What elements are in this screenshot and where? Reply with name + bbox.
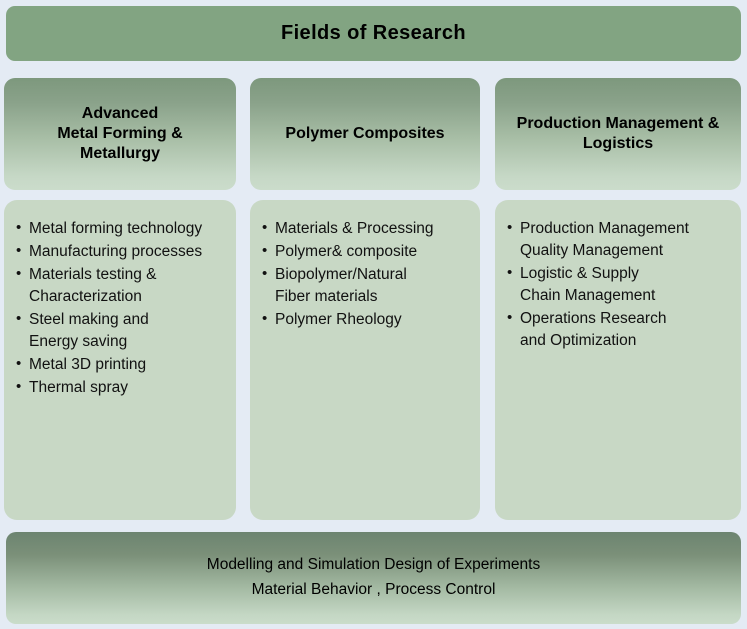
list-item: Manufacturing processes bbox=[16, 241, 224, 263]
list-item: Polymer Rheology bbox=[262, 309, 468, 331]
page-title: Fields of Research bbox=[281, 22, 466, 45]
list-item: Polymer& composite bbox=[262, 241, 468, 263]
diagram-title-banner: Fields of Research bbox=[6, 6, 741, 61]
column-header-label: Advanced Metal Forming & Metallurgy bbox=[57, 104, 182, 163]
list-item: Steel making and Energy saving bbox=[16, 309, 224, 353]
fields-of-research-diagram: Fields of Research Advanced Metal Formin… bbox=[0, 0, 747, 629]
list-item: Materials testing & Characterization bbox=[16, 264, 224, 308]
footer-line-2: Material Behavior , Process Control bbox=[252, 578, 496, 603]
column-header-label: Production Management & Logistics bbox=[517, 114, 720, 154]
column-body-polymer-composites: Materials & Processing Polymer& composit… bbox=[250, 200, 480, 520]
diagram-footer-banner: Modelling and Simulation Design of Exper… bbox=[6, 532, 741, 624]
column-header-label: Polymer Composites bbox=[285, 124, 444, 144]
column-header-production-management: Production Management & Logistics bbox=[495, 78, 741, 190]
column-header-polymer-composites: Polymer Composites bbox=[250, 78, 480, 190]
list-item: Materials & Processing bbox=[262, 218, 468, 240]
list-item: Logistic & Supply Chain Management bbox=[507, 263, 729, 307]
column-body-advanced-metal-forming: Metal forming technology Manufacturing p… bbox=[4, 200, 236, 520]
topic-list: Metal forming technology Manufacturing p… bbox=[16, 218, 224, 399]
topic-list: Materials & Processing Polymer& composit… bbox=[262, 218, 468, 331]
list-item: Production Management Quality Management bbox=[507, 218, 729, 262]
topic-list: Production Management Quality Management… bbox=[507, 218, 729, 352]
list-item: Operations Research and Optimization bbox=[507, 308, 729, 352]
column-header-advanced-metal-forming: Advanced Metal Forming & Metallurgy bbox=[4, 78, 236, 190]
list-item: Metal 3D printing bbox=[16, 354, 224, 376]
column-body-production-management: Production Management Quality Management… bbox=[495, 200, 741, 520]
list-item: Thermal spray bbox=[16, 377, 224, 399]
list-item: Biopolymer/Natural Fiber materials bbox=[262, 264, 468, 308]
footer-line-1: Modelling and Simulation Design of Exper… bbox=[207, 553, 540, 578]
list-item: Metal forming technology bbox=[16, 218, 224, 240]
